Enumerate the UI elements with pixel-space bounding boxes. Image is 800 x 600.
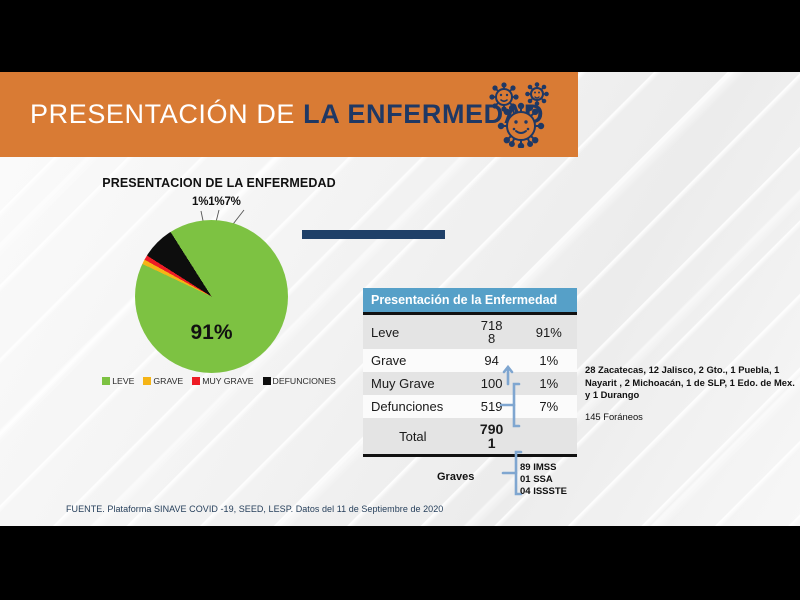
legend-swatch-grave xyxy=(143,377,151,385)
legend-label-defunciones: DEFUNCIONES xyxy=(273,376,336,386)
chart-legend: LEVE GRAVE MUY GRAVE DEFUNCIONES xyxy=(88,376,350,386)
legend-label-leve: LEVE xyxy=(112,376,134,386)
total-value: 790 1 xyxy=(463,418,521,456)
row-value: 94 xyxy=(463,349,521,372)
side-notes: 28 Zacatecas, 12 Jalisco, 2 Gto., 1 Pueb… xyxy=(585,364,797,422)
table-row[interactable]: Defunciones 519 7% xyxy=(363,395,577,418)
table-row[interactable]: Leve 718 8 91% xyxy=(363,314,577,350)
pie-chart-block: PRESENTACION DE LA ENFERMEDAD 1%1%7% 91%… xyxy=(88,176,350,376)
disease-table: Presentación de la Enfermedad Leve 718 8… xyxy=(363,288,577,457)
page-title-light: PRESENTACIÓN DE xyxy=(30,99,303,129)
foreign-cases-note: 145 Foráneos xyxy=(585,411,797,422)
total-value-line1: 790 xyxy=(471,422,513,436)
total-value-line2: 1 xyxy=(471,436,513,450)
letterbox-top xyxy=(0,0,800,72)
row-percent: 1% xyxy=(521,372,577,395)
legend-swatch-muy-grave xyxy=(192,377,200,385)
pie-graphic: 91% xyxy=(135,220,288,373)
row-percent: 7% xyxy=(521,395,577,418)
table-row[interactable]: Muy Grave 100 1% xyxy=(363,372,577,395)
graves-label: Graves xyxy=(437,471,474,483)
row-value: 519 xyxy=(463,395,521,418)
legend-item-grave[interactable]: GRAVE xyxy=(143,376,183,386)
source-footnote: FUENTE. Plataforma SINAVE COVID -19, SEE… xyxy=(66,504,443,514)
total-percent xyxy=(521,418,577,456)
legend-swatch-defunciones xyxy=(263,377,271,385)
row-value: 100 xyxy=(463,372,521,395)
header-banner: PRESENTACIÓN DE LA ENFERMEDAD xyxy=(0,72,578,157)
letterbox-bottom xyxy=(0,526,800,600)
row-percent: 1% xyxy=(521,349,577,372)
page-title: PRESENTACIÓN DE LA ENFERMEDAD xyxy=(30,99,544,130)
legend-item-leve[interactable]: LEVE xyxy=(102,376,134,386)
pie-slices xyxy=(135,220,288,373)
row-percent: 91% xyxy=(521,314,577,350)
row-label: Muy Grave xyxy=(363,372,463,395)
legend-item-defunciones[interactable]: DEFUNCIONES xyxy=(263,376,336,386)
graves-breakdown: 89 IMSS 01 SSA 04 ISSSTE xyxy=(520,462,567,498)
table-header-label: Presentación de la Enfermedad xyxy=(363,288,577,314)
chart-title: PRESENTACION DE LA ENFERMEDAD xyxy=(88,176,350,190)
table-row[interactable]: Grave 94 1% xyxy=(363,349,577,372)
graves-items: 89 IMSS 01 SSA 04 ISSSTE xyxy=(520,462,567,497)
row-label: Grave xyxy=(363,349,463,372)
table-total-row: Total 790 1 xyxy=(363,418,577,456)
legend-swatch-leve xyxy=(102,377,110,385)
slide-canvas: PRESENTACIÓN DE LA ENFERMEDAD xyxy=(0,72,800,526)
row-value-line2: 8 xyxy=(471,332,513,345)
pie-outside-labels: 1%1%7% xyxy=(192,196,241,208)
legend-label-grave: GRAVE xyxy=(153,376,183,386)
row-value: 718 8 xyxy=(463,314,521,350)
legend-item-muy-grave[interactable]: MUY GRAVE xyxy=(192,376,253,386)
total-label: Total xyxy=(363,418,463,456)
table-header-row: Presentación de la Enfermedad xyxy=(363,288,577,314)
row-label: Defunciones xyxy=(363,395,463,418)
row-label: Leve xyxy=(363,314,463,350)
state-distribution-note: 28 Zacatecas, 12 Jalisco, 2 Gto., 1 Pueb… xyxy=(585,364,797,402)
coronavirus-icon xyxy=(486,82,556,148)
legend-label-muy-grave: MUY GRAVE xyxy=(202,376,253,386)
